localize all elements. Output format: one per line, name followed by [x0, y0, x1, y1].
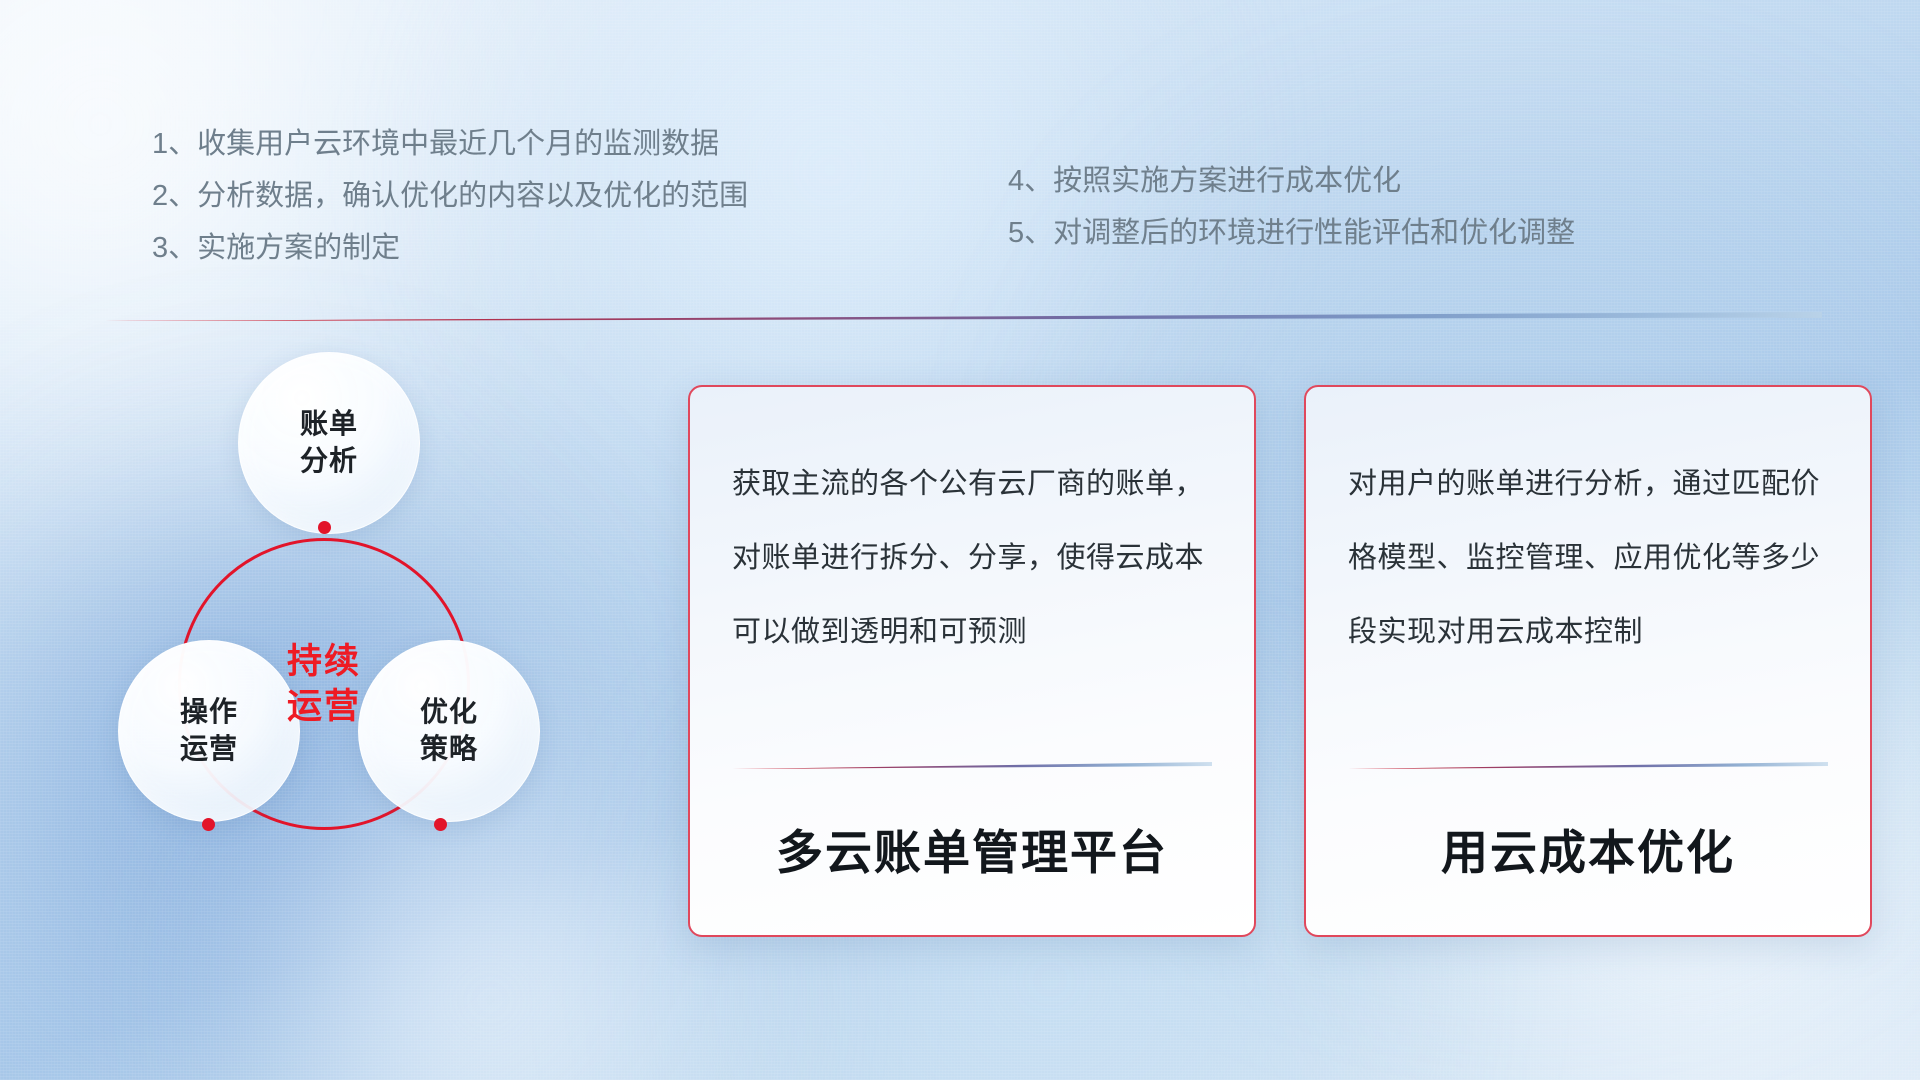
process-steps-left: 1、收集用户云环境中最近几个月的监测数据 2、分析数据，确认优化的内容以及优化的… — [152, 118, 748, 274]
venn-lobe-billing-analysis[interactable]: 账单 分析 — [238, 352, 420, 534]
venn-center-label: 持续 运营 — [178, 538, 470, 830]
feature-card-cost-optimization[interactable]: 对用户的账单进行分析，通过匹配价格模型、监控管理、应用优化等多少段实现对用云成本… — [1304, 385, 1872, 937]
process-steps-right: 4、按照实施方案进行成本优化 5、对调整后的环境进行性能评估和优化调整 — [1008, 155, 1575, 259]
venn-lobe-label-line2: 分析 — [300, 443, 358, 480]
feature-card-multicloud-billing[interactable]: 获取主流的各个公有云厂商的账单，对账单进行拆分、分享，使得云成本可以做到透明和可… — [688, 385, 1256, 937]
venn-node-dot-left — [202, 818, 215, 831]
venn-node-dot-right — [434, 818, 447, 831]
process-step-2: 2、分析数据，确认优化的内容以及优化的范围 — [152, 170, 748, 222]
feature-card-divider — [1348, 762, 1828, 769]
venn-lobe-label-line1: 账单 — [300, 406, 358, 443]
process-step-1: 1、收集用户云环境中最近几个月的监测数据 — [152, 118, 748, 170]
venn-center-label-line1: 持续 — [287, 639, 361, 685]
feature-card-body: 获取主流的各个公有云厂商的账单，对账单进行拆分、分享，使得云成本可以做到透明和可… — [732, 447, 1212, 669]
process-step-5: 5、对调整后的环境进行性能评估和优化调整 — [1008, 207, 1575, 259]
feature-card-divider — [732, 762, 1212, 769]
process-step-3: 3、实施方案的制定 — [152, 222, 748, 274]
venn-node-dot-top — [318, 521, 331, 534]
feature-card-title: 多云账单管理平台 — [732, 814, 1212, 883]
process-step-4: 4、按照实施方案进行成本优化 — [1008, 155, 1575, 207]
venn-diagram: 账单 分析 操作 运营 优化 策略 持续 运营 — [96, 352, 644, 952]
feature-card-title: 用云成本优化 — [1348, 814, 1828, 883]
venn-center-label-line2: 运营 — [287, 684, 361, 730]
feature-card-body: 对用户的账单进行分析，通过匹配价格模型、监控管理、应用优化等多少段实现对用云成本… — [1348, 447, 1828, 669]
